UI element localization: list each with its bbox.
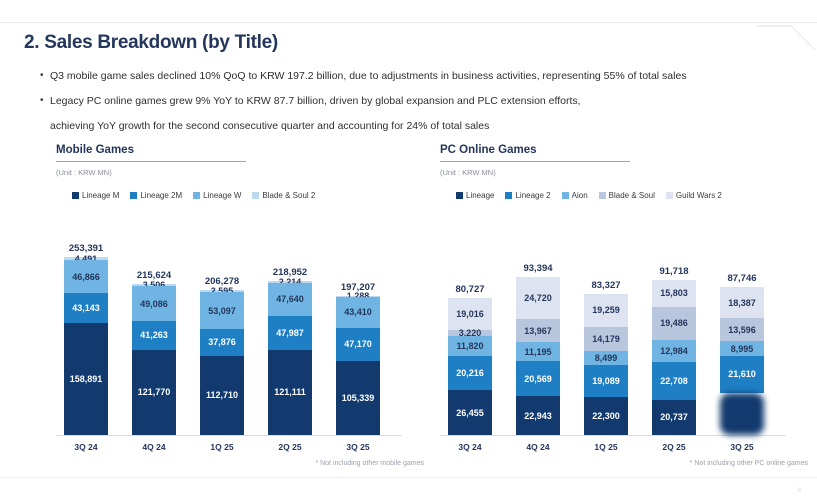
bar-segment: 43,410	[336, 297, 380, 328]
bar-stack: 197,2071,28843,41047,170105,339	[336, 296, 380, 435]
x-axis-tick-label: 1Q 25	[594, 442, 617, 452]
bar-segment-label: 19,486	[660, 318, 688, 328]
bar-segment: 26,455	[448, 390, 492, 435]
top-divider	[0, 22, 817, 23]
bar-segment	[720, 393, 764, 435]
bullet-text: Q3 mobile game sales declined 10% QoQ to…	[50, 68, 687, 84]
legend-swatch-icon	[456, 192, 463, 199]
legend-item-guild-wars-2: Guild Wars 2	[666, 191, 722, 200]
x-axis-tick-label: 4Q 24	[526, 442, 549, 452]
bar-total-label: 91,718	[659, 266, 688, 277]
bar-total-label: 206,278	[205, 276, 239, 287]
bar-segment: 11,195	[516, 342, 560, 361]
bar-segment: 8,499	[584, 351, 628, 365]
legend-label: Blade & Soul	[609, 191, 655, 200]
bullet-marker-icon: •	[40, 68, 50, 84]
bar-stack: 215,6243,50649,08641,263121,770	[132, 284, 176, 435]
bar-segment: 13,967	[516, 319, 560, 343]
bar-total-label: 87,746	[727, 273, 756, 284]
bar-segment-label: 20,216	[456, 368, 484, 378]
bar-segment: 14,179	[584, 327, 628, 351]
bar-segment-label: 18,387	[728, 298, 756, 308]
bar-total-label: 83,327	[591, 280, 620, 291]
legend-label: Blade & Soul 2	[262, 191, 315, 200]
bar-stack: 80,72719,0163,22011,82020,21626,455	[448, 298, 492, 435]
bar-segment: 112,710	[200, 356, 244, 435]
bar-segment-label: 14,179	[592, 334, 620, 344]
legend-item-lineage-w: Lineage W	[193, 191, 241, 200]
bar-segment: 46,866	[64, 260, 108, 293]
legend-swatch-icon	[252, 192, 259, 199]
x-axis-tick-label: 4Q 24	[142, 442, 165, 452]
bar-segment: 20,216	[448, 356, 492, 390]
list-item: • Legacy PC online games grew 9% YoY to …	[40, 93, 800, 109]
slide-root: 2. Sales Breakdown (by Title) • Q3 mobil…	[0, 0, 817, 500]
bullet-text-continuation: achieving YoY growth for the second cons…	[50, 118, 800, 134]
legend-swatch-icon	[562, 192, 569, 199]
bar-segment: 37,876	[200, 329, 244, 356]
bar-segment: 21,610	[720, 356, 764, 392]
bullet-text: Legacy PC online games grew 9% YoY to KR…	[50, 93, 581, 109]
bar-segment-label: 37,876	[208, 337, 236, 347]
bar-segment-label: 15,803	[660, 288, 688, 298]
bar-segment: 47,987	[268, 316, 312, 350]
bar-segment-label: 22,708	[660, 376, 688, 386]
bar-segment: 19,016	[448, 298, 492, 330]
bar-segment-label: 47,170	[344, 339, 372, 349]
legend-item-lineage-2: Lineage 2	[505, 191, 550, 200]
bar-segment: 121,111	[268, 350, 312, 435]
bar-total-label: 197,207	[341, 282, 375, 293]
page-number: 6	[798, 488, 801, 494]
bar-segment-label: 49,086	[140, 299, 168, 309]
bar-segment: 11,820	[448, 336, 492, 356]
legend-swatch-icon	[193, 192, 200, 199]
bar-total-label: 253,391	[69, 243, 103, 254]
bar-segment-label: 43,143	[72, 303, 100, 313]
chart-footnote: * Not including other mobile games	[315, 460, 424, 467]
bar-stack: 87,74618,38713,5968,99521,610	[720, 287, 764, 435]
bar-segment-label: 24,720	[524, 293, 552, 303]
x-axis-tick-label: 3Q 25	[730, 442, 753, 452]
x-axis-tick-label: 2Q 25	[662, 442, 685, 452]
bar-segment-label: 53,097	[208, 306, 236, 316]
legend-swatch-icon	[505, 192, 512, 199]
bullet-marker-icon: •	[40, 93, 50, 109]
bar-segment-label: 21,610	[728, 369, 756, 379]
x-axis-tick-label: 1Q 25	[210, 442, 233, 452]
x-axis-tick-label: 2Q 25	[278, 442, 301, 452]
legend-label: Lineage 2	[515, 191, 550, 200]
pc-online-games-chart: 80,72719,0163,22011,82020,21626,45593,39…	[440, 214, 812, 436]
bar-segment: 43,143	[64, 293, 108, 323]
bar-segment: 47,170	[336, 328, 380, 361]
x-axis-labels: 3Q 244Q 241Q 252Q 253Q 25	[56, 442, 402, 456]
bar-segment-label: 19,259	[592, 305, 620, 315]
bar-segment: 12,984	[652, 340, 696, 362]
bar-stack: 83,32719,25914,1798,49919,08922,300	[584, 294, 628, 435]
panel-unit-label: (Unit : KRW MN)	[56, 168, 428, 177]
bar-segment-label: 19,016	[456, 309, 484, 319]
bar-segment-label: 11,195	[524, 347, 551, 357]
bar-stack: 91,71815,80319,48612,98422,70820,737	[652, 280, 696, 435]
bar-segment-label: 20,569	[524, 374, 552, 384]
x-axis-labels: 3Q 244Q 241Q 252Q 253Q 25	[440, 442, 786, 456]
mobile-games-chart: 253,3914,49146,86643,143158,891215,6243,…	[56, 214, 428, 436]
bar-segment-label: 105,339	[342, 393, 375, 403]
bar-total-label: 93,394	[523, 263, 552, 274]
bar-segment: 22,943	[516, 396, 560, 435]
bar-segment-label: 47,987	[276, 328, 304, 338]
bar-segment-label: 112,710	[206, 390, 238, 400]
bar-segment: 8,995	[720, 341, 764, 356]
bar-segment-label: 11,820	[456, 341, 483, 351]
legend-item-lineage-m: Lineage M	[72, 191, 119, 200]
bar-segment: 49,086	[132, 286, 176, 320]
bar-segment-label: 13,596	[728, 325, 756, 335]
bar-segment: 20,569	[516, 361, 560, 396]
bullet-list: • Q3 mobile game sales declined 10% QoQ …	[40, 68, 800, 134]
bar-segment: 24,720	[516, 277, 560, 319]
legend-swatch-icon	[72, 192, 79, 199]
legend-item-aion: Aion	[562, 191, 588, 200]
footer-divider	[0, 477, 817, 478]
bar-segment-label: 22,943	[524, 411, 552, 421]
bar-stack: 253,3914,49146,86643,143158,891	[64, 257, 108, 435]
legend-label: Aion	[572, 191, 588, 200]
legend-item-lineage: Lineage	[456, 191, 494, 200]
legend-item-lineage-2m: Lineage 2M	[130, 191, 182, 200]
bar-segment-label: 12,984	[660, 346, 688, 356]
bar-segment-label: 47,640	[276, 294, 304, 304]
bar-segment: 18,387	[720, 287, 764, 318]
bar-segment-label: 43,410	[344, 307, 372, 317]
panel-unit-label: (Unit : KRW MN)	[440, 168, 812, 177]
bar-stack: 218,9522,21447,64047,987121,111	[268, 281, 312, 435]
panel-title-underline	[56, 161, 246, 162]
bar-segment: 19,089	[584, 365, 628, 397]
legend-label: Lineage W	[203, 191, 241, 200]
bar-segment: 19,259	[584, 294, 628, 327]
legend-item-blade-soul: Blade & Soul	[599, 191, 655, 200]
bar-segment: 158,891	[64, 323, 108, 435]
bar-segment-label: 8,499	[595, 353, 618, 363]
list-item: • Q3 mobile game sales declined 10% QoQ …	[40, 68, 800, 84]
pc-online-games-panel: PC Online Games (Unit : KRW MN) LineageL…	[440, 144, 812, 474]
legend-swatch-icon	[666, 192, 673, 199]
bar-segment: 13,596	[720, 318, 764, 341]
bar-segment: 121,770	[132, 350, 176, 435]
legend-label: Lineage M	[82, 191, 119, 200]
bar-segment: 53,097	[200, 292, 244, 329]
bar-segment: 22,300	[584, 397, 628, 435]
bar-segment-label: 13,967	[524, 326, 552, 336]
x-axis-tick-label: 3Q 25	[346, 442, 369, 452]
bar-segment: 41,263	[132, 321, 176, 350]
legend-label: Lineage 2M	[140, 191, 182, 200]
bar-segment-label: 121,111	[274, 387, 306, 397]
legend-swatch-icon	[599, 192, 606, 199]
legend-label: Guild Wars 2	[676, 191, 722, 200]
x-axis-line	[440, 435, 786, 436]
bar-total-label: 80,727	[455, 284, 484, 295]
bar-total-label: 215,624	[137, 270, 171, 281]
bar-segment-label: 46,866	[72, 272, 100, 282]
panel-title: PC Online Games	[440, 144, 812, 161]
corner-decoration-icon	[757, 22, 817, 52]
legend-item-blade-soul-2: Blade & Soul 2	[252, 191, 315, 200]
legend-swatch-icon	[130, 192, 137, 199]
mobile-games-panel: Mobile Games (Unit : KRW MN) Lineage MLi…	[56, 144, 428, 474]
bar-segment-label: 19,089	[592, 376, 620, 386]
bar-segment-label: 158,891	[70, 374, 103, 384]
bar-segment: 15,803	[652, 280, 696, 307]
chart-legend: Lineage MLineage 2MLineage WBlade & Soul…	[56, 191, 428, 200]
bar-segment: 19,486	[652, 307, 696, 340]
bar-segment-label: 26,455	[456, 408, 484, 418]
bar-segment-label: 20,737	[660, 412, 688, 422]
bar-total-label: 218,952	[273, 267, 307, 278]
panel-title: Mobile Games	[56, 144, 428, 161]
bar-segment-label: 8,995	[731, 344, 754, 354]
bar-segment: 20,737	[652, 400, 696, 435]
chart-footnote: * Not including other PC online games	[690, 460, 808, 467]
x-axis-tick-label: 3Q 24	[458, 442, 481, 452]
legend-label: Lineage	[466, 191, 494, 200]
bar-segment: 105,339	[336, 361, 380, 435]
bar-stack: 206,2782,59553,09737,876112,710	[200, 290, 244, 435]
bar-stack: 93,39424,72013,96711,19520,56922,943	[516, 277, 560, 435]
bar-segment: 22,708	[652, 362, 696, 400]
panel-title-underline	[440, 161, 630, 162]
bar-segment-label: 121,770	[138, 387, 171, 397]
x-axis-tick-label: 3Q 24	[74, 442, 97, 452]
x-axis-line	[56, 435, 402, 436]
bar-segment: 47,640	[268, 283, 312, 317]
chart-legend: LineageLineage 2AionBlade & SoulGuild Wa…	[440, 191, 812, 200]
bar-segment-label: 22,300	[592, 411, 620, 421]
page-title: 2. Sales Breakdown (by Title)	[24, 32, 278, 54]
bar-segment-label: 41,263	[140, 330, 168, 340]
